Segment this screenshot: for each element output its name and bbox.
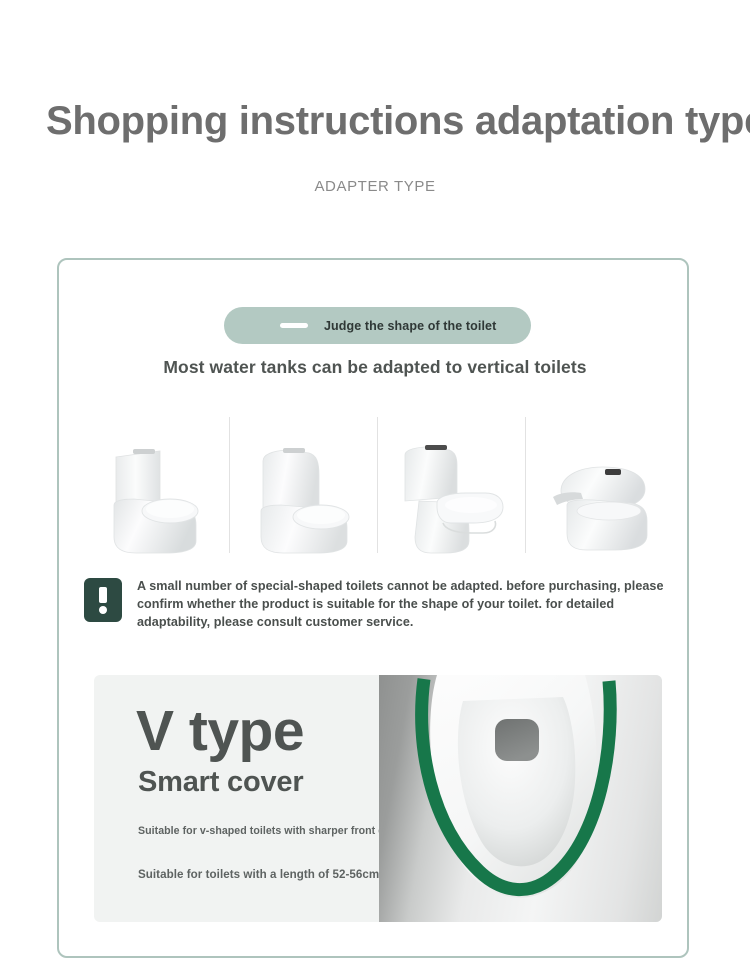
adapter-type-card: Judge the shape of the toilet Most water… [57,258,689,958]
v-outline-overlay [379,675,662,922]
one-piece-vertical-toilet-icon [100,437,210,555]
exclamation-stem [99,587,107,603]
toilet-gallery [81,415,673,555]
exclamation-icon [84,578,122,622]
v-type-note-length: Suitable for toilets with a length of 52… [138,868,379,881]
v-type-panel: V type Smart cover Suitable for v-shaped… [94,675,662,922]
gallery-item-one-piece-vertical-toilet [81,415,229,555]
toilet-bowl-top-view-photo [379,675,662,922]
smart-toilet-icon [543,455,655,555]
adaptation-warning-notice: A small number of special-shaped toilets… [84,578,674,632]
v-type-title: V type [136,703,304,760]
two-piece-toilet-icon [393,435,509,555]
dash-icon [280,323,308,328]
adaptation-sub-heading: Most water tanks can be adapted to verti… [59,357,691,378]
gallery-item-two-piece-toilet [377,415,525,555]
one-piece-skirted-toilet-icon [247,437,359,555]
page-subtitle: ADAPTER TYPE [0,178,750,195]
judge-shape-badge: Judge the shape of the toilet [224,307,531,344]
v-type-info: V type Smart cover Suitable for v-shaped… [94,675,379,922]
v-type-subtitle: Smart cover [138,768,303,797]
page-title: Shopping instructions adaptation type [46,99,726,143]
gallery-item-smart-toilet [525,415,673,555]
adaptation-warning-text: A small number of special-shaped toilets… [137,578,674,632]
judge-shape-badge-label: Judge the shape of the toilet [324,319,496,333]
gallery-item-one-piece-skirted-toilet [229,415,377,555]
v-type-note-shape: Suitable for v-shaped toilets with sharp… [138,825,403,837]
exclamation-dot [99,606,107,614]
